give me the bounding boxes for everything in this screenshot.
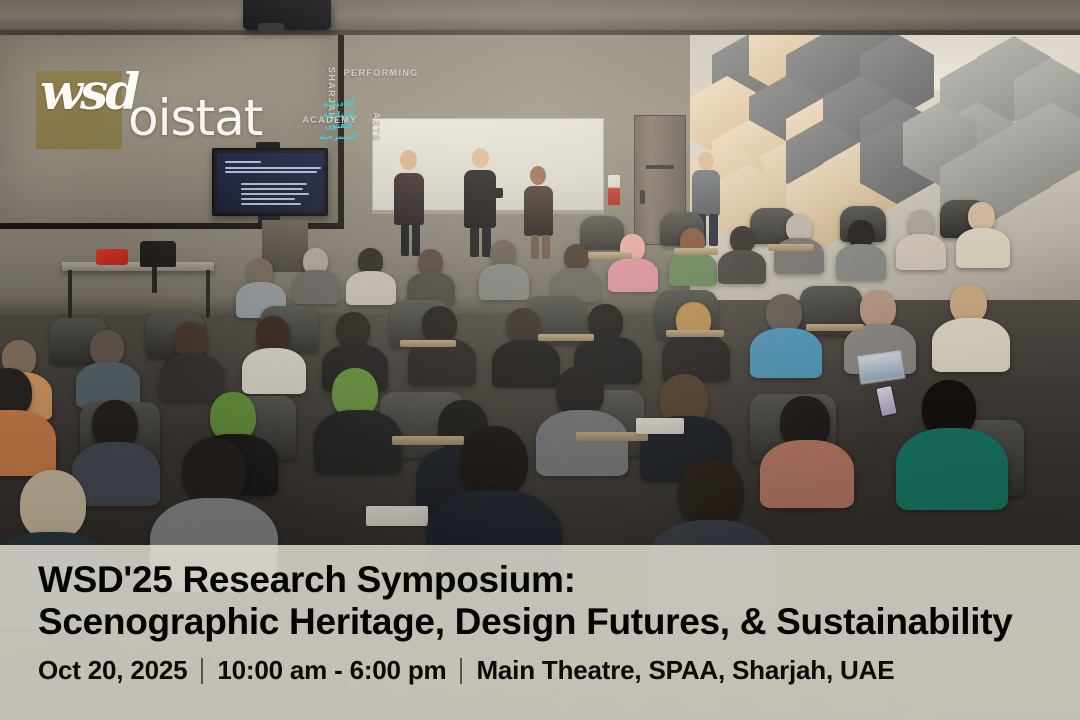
event-info-banner: WSD'25 Research Symposium: Scenographic … — [0, 545, 1080, 720]
oistat-logo: oistat — [128, 89, 262, 147]
fire-extinguisher — [608, 175, 620, 205]
event-date: Oct 20, 2025 — [38, 655, 187, 686]
event-title: WSD'25 Research Symposium: Scenographic … — [38, 559, 1060, 643]
front-chair-base — [152, 267, 157, 293]
audience-notebook — [366, 506, 428, 526]
event-poster: wsd oistat PERFORMING SHARJAH ARTS ACADE… — [0, 0, 1080, 720]
laptop-screen — [860, 352, 903, 381]
projector-lens — [258, 23, 284, 32]
presenter-tablet — [489, 188, 503, 198]
spaa-word-arts: ARTS — [372, 112, 382, 142]
monitor-slide — [217, 153, 323, 211]
audience-laptop — [856, 349, 906, 385]
hexagon-acoustic-panels — [690, 22, 1080, 232]
event-title-line2: Scenographic Heritage, Design Futures, &… — [38, 601, 1060, 643]
ceiling-seam — [0, 30, 1080, 35]
ceiling — [0, 0, 1080, 34]
event-title-line1: WSD'25 Research Symposium: — [38, 559, 576, 600]
front-table — [62, 262, 214, 271]
front-chair — [140, 241, 176, 267]
spaa-arabic-text: أكاديمية الشارقة للفنون المسرحية — [311, 98, 365, 142]
door-handle — [640, 190, 645, 204]
presenter-monitor — [212, 148, 328, 216]
event-venue: Main Theatre, SPAA, Sharjah, UAE — [476, 655, 894, 686]
ceiling-projector — [243, 0, 331, 30]
meta-separator-1 — [201, 658, 203, 684]
audience-notebook — [636, 418, 684, 434]
meta-separator-2 — [460, 658, 462, 684]
door-vent — [646, 165, 674, 169]
spaa-word-performing: PERFORMING — [344, 68, 419, 78]
event-time: 10:00 am - 6:00 pm — [217, 655, 446, 686]
red-bag — [96, 249, 128, 265]
event-meta: Oct 20, 2025 10:00 am - 6:00 pm Main The… — [38, 655, 1060, 686]
